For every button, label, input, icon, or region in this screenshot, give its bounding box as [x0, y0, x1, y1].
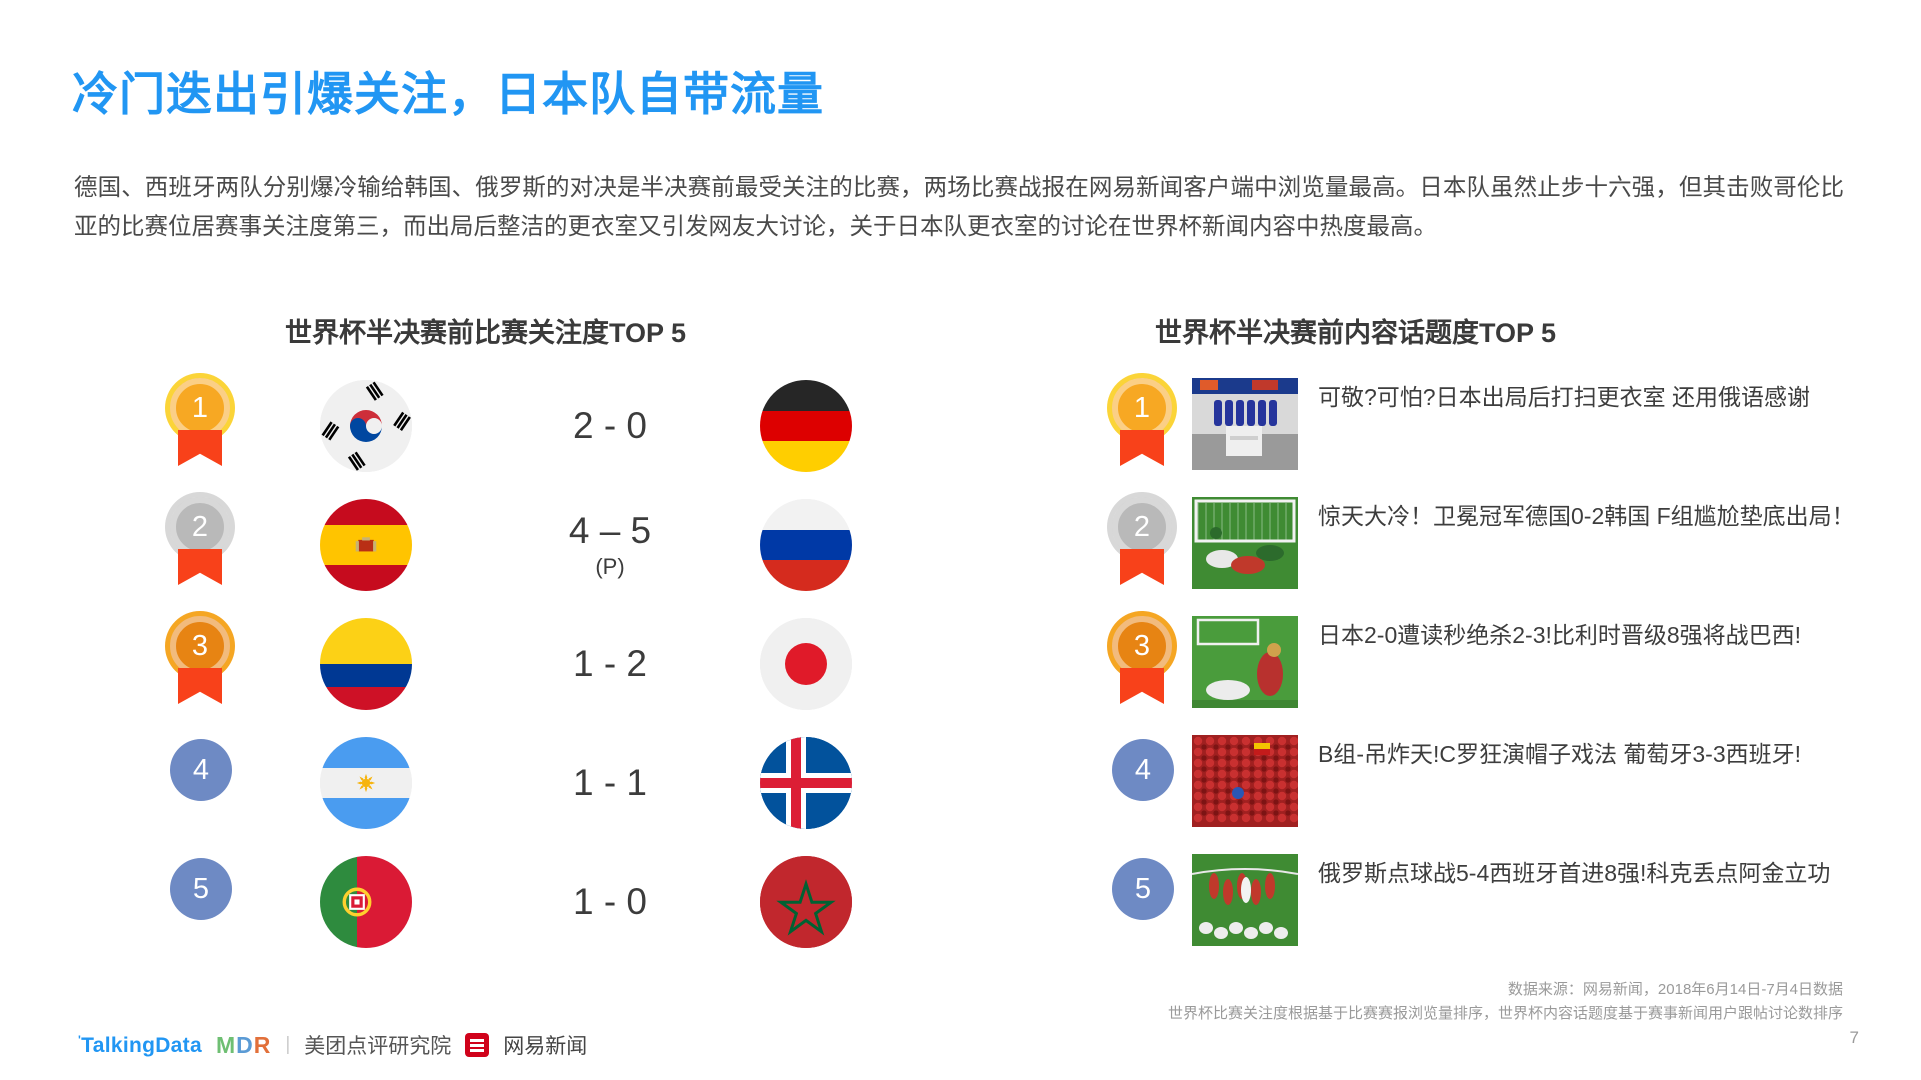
- score-value: 1 - 0: [573, 881, 647, 923]
- rank-number: 2: [192, 511, 208, 544]
- logo-bar: 'TalkingData MDR | 美团点评研究院 网易新闻: [78, 1030, 587, 1060]
- talkingdata-logo: 'TalkingData: [78, 1033, 202, 1058]
- source-line-1: 数据来源：网易新闻，2018年6月14日-7月4日数据: [1168, 978, 1843, 1002]
- ribbon-icon: [1120, 668, 1164, 704]
- rank-number: 2: [1134, 511, 1150, 544]
- flag-portugal-icon: [320, 856, 412, 948]
- mdr-logo: MDR: [216, 1032, 271, 1059]
- rank-number: 5: [1135, 873, 1151, 906]
- news-thumbnail[interactable]: [1192, 854, 1298, 946]
- netease-news-logo: 网易新闻: [503, 1030, 587, 1060]
- rank-circle-icon: 4: [170, 739, 232, 801]
- score-value: 2 - 0: [573, 405, 647, 447]
- medal-gold-icon: 1: [170, 378, 230, 438]
- rank-number: 1: [192, 392, 208, 425]
- page-number: 7: [1850, 1028, 1859, 1048]
- match-score: 4 – 5 (P): [500, 499, 720, 591]
- news-thumbnail[interactable]: [1192, 735, 1298, 827]
- rank-number: 5: [193, 873, 209, 906]
- news-thumbnail[interactable]: [1192, 616, 1298, 708]
- ribbon-icon: [1120, 430, 1164, 466]
- flag-russia-icon: [760, 499, 852, 591]
- score-value: 1 - 2: [573, 643, 647, 685]
- source-note: 数据来源：网易新闻，2018年6月14日-7月4日数据 世界杯比赛关注度根据基于…: [1168, 978, 1843, 1026]
- rank-badge: 2: [1100, 497, 1184, 597]
- medal-silver-icon: 2: [170, 497, 230, 557]
- news-row[interactable]: 3 日本2-0遭读秒绝杀2-3!比利时晋级8强将战巴西!: [1100, 610, 1900, 729]
- flag-korea-icon: [320, 380, 412, 472]
- match-score: 1 - 2: [500, 618, 720, 710]
- source-line-2: 世界杯比赛关注度根据基于比赛赛报浏览量排序，世界杯内容话题度基于赛事新闻用户跟帖…: [1168, 1002, 1843, 1026]
- rank-badge: 1: [1100, 378, 1184, 478]
- news-thumbnail[interactable]: [1192, 497, 1298, 589]
- flag-germany-icon: [760, 380, 852, 472]
- rank-badge: 2: [158, 497, 242, 597]
- ribbon-icon: [178, 549, 222, 585]
- rank-circle-icon: 4: [1112, 739, 1174, 801]
- rank-badge: 5: [158, 854, 242, 954]
- right-section-header: 世界杯半决赛前内容话题度TOP 5: [1155, 311, 1556, 350]
- news-title[interactable]: 可敬?可怕?日本出局后打扫更衣室 还用俄语感谢: [1318, 380, 1884, 414]
- rank-badge: 3: [158, 616, 242, 716]
- score-value: 4 – 5: [569, 510, 651, 552]
- news-row[interactable]: 4 B组-吊炸天!C罗狂演帽子戏法 葡萄牙3-3西班牙!: [1100, 729, 1900, 848]
- rank-badge: 5: [1100, 854, 1184, 954]
- flag-morocco-icon: [760, 856, 852, 948]
- medal-gold-icon: 1: [1112, 378, 1172, 438]
- match-row: 5 1 - 0: [120, 848, 1000, 967]
- medal-bronze-icon: 3: [1112, 616, 1172, 676]
- netease-icon: [465, 1033, 489, 1057]
- match-ranking-list: 1 2 - 0: [120, 372, 1000, 967]
- flag-argentina-icon: [320, 737, 412, 829]
- news-ranking-list: 1 可敬?可怕?日本出局后打扫更衣室 还用俄语感谢 2 惊天大冷！卫冕冠军德国0…: [1100, 372, 1900, 967]
- meituan-research-logo: 美团点评研究院: [304, 1030, 451, 1060]
- medal-bronze-icon: 3: [170, 616, 230, 676]
- match-row: 4 1 - 1: [120, 729, 1000, 848]
- news-row[interactable]: 2 惊天大冷！卫冕冠军德国0-2韩国 F组尴尬垫底出局！: [1100, 491, 1900, 610]
- match-score: 1 - 1: [500, 737, 720, 829]
- rank-number: 3: [192, 630, 208, 663]
- news-title[interactable]: B组-吊炸天!C罗狂演帽子戏法 葡萄牙3-3西班牙!: [1318, 737, 1884, 771]
- news-thumbnail[interactable]: [1192, 378, 1298, 470]
- rank-number: 3: [1134, 630, 1150, 663]
- flag-colombia-icon: [320, 618, 412, 710]
- rank-number: 4: [1135, 754, 1151, 787]
- left-section-header: 世界杯半决赛前比赛关注度TOP 5: [285, 311, 686, 350]
- match-row: 1 2 - 0: [120, 372, 1000, 491]
- flag-japan-icon: [760, 618, 852, 710]
- rank-badge: 1: [158, 378, 242, 478]
- ribbon-icon: [1120, 549, 1164, 585]
- page-title: 冷门迭出引爆关注，日本队自带流量: [72, 58, 824, 124]
- match-score: 1 - 0: [500, 856, 720, 948]
- match-row: 3 1 - 2: [120, 610, 1000, 729]
- score-value: 1 - 1: [573, 762, 647, 804]
- rank-number: 4: [193, 754, 209, 787]
- ribbon-icon: [178, 668, 222, 704]
- medal-silver-icon: 2: [1112, 497, 1172, 557]
- rank-circle-icon: 5: [170, 858, 232, 920]
- news-row[interactable]: 1 可敬?可怕?日本出局后打扫更衣室 还用俄语感谢: [1100, 372, 1900, 491]
- match-score: 2 - 0: [500, 380, 720, 472]
- rank-badge: 4: [158, 735, 242, 835]
- ribbon-icon: [178, 430, 222, 466]
- score-note: (P): [595, 554, 624, 580]
- news-row[interactable]: 5 俄罗斯点球战5-4西班牙首进8强!科克丢点阿金立功: [1100, 848, 1900, 967]
- news-title[interactable]: 惊天大冷！卫冕冠军德国0-2韩国 F组尴尬垫底出局！: [1318, 499, 1884, 533]
- lede-paragraph: 德国、西班牙两队分别爆冷输给韩国、俄罗斯的对决是半决赛前最受关注的比赛，两场比赛…: [74, 168, 1844, 246]
- rank-badge: 3: [1100, 616, 1184, 716]
- logo-divider: |: [285, 1034, 290, 1056]
- rank-badge: 4: [1100, 735, 1184, 835]
- flag-iceland-icon: [760, 737, 852, 829]
- rank-circle-icon: 5: [1112, 858, 1174, 920]
- slide-root: 冷门迭出引爆关注，日本队自带流量 德国、西班牙两队分别爆冷输给韩国、俄罗斯的对决…: [0, 0, 1921, 1080]
- rank-number: 1: [1134, 392, 1150, 425]
- match-row: 2 4 – 5 (P): [120, 491, 1000, 610]
- news-title[interactable]: 俄罗斯点球战5-4西班牙首进8强!科克丢点阿金立功: [1318, 856, 1884, 890]
- flag-spain-icon: [320, 499, 412, 591]
- news-title[interactable]: 日本2-0遭读秒绝杀2-3!比利时晋级8强将战巴西!: [1318, 618, 1884, 652]
